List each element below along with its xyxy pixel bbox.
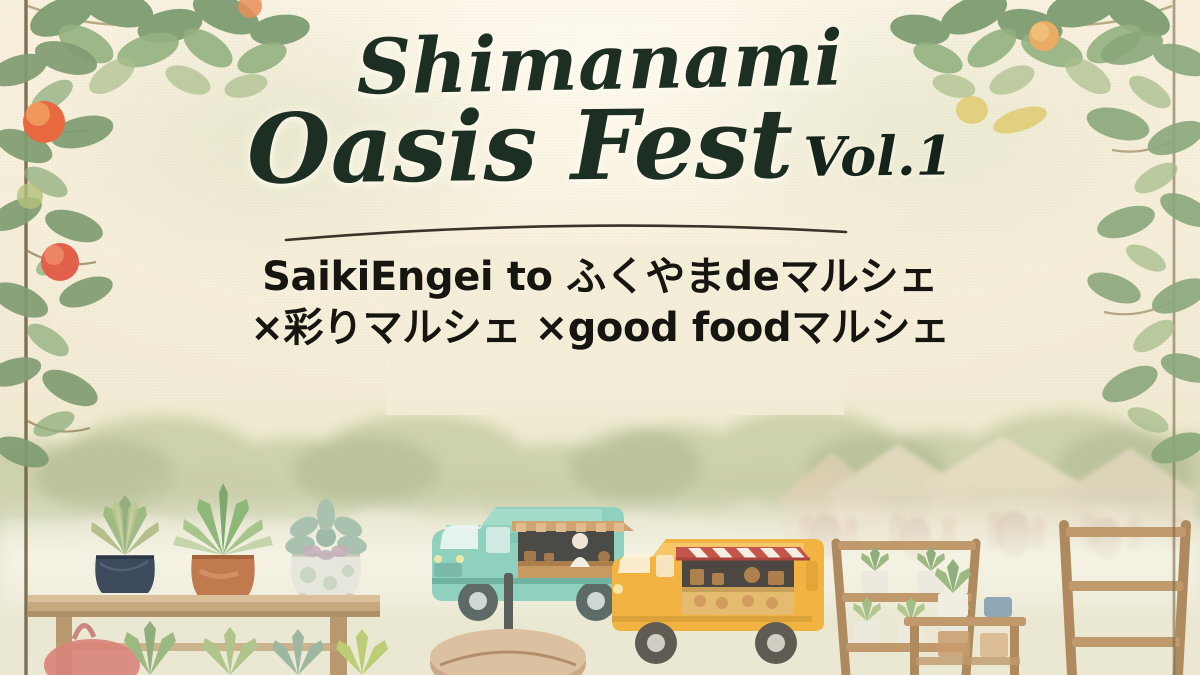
title-block: Shimanami Oasis Fest Vol.1	[0, 26, 1200, 194]
green-food-truck	[432, 507, 634, 621]
subtitle-line-1: SaikiEngei to ふくやまdeマルシェ	[0, 252, 1200, 303]
subtitle-line-2: ×彩りマルシェ ×good foodマルシェ	[0, 303, 1200, 354]
festival-poster: Shimanami Oasis Fest Vol.1 SaikiEngei to…	[0, 0, 1200, 675]
orange-food-truck	[612, 539, 824, 664]
title-swash-underline	[0, 214, 1200, 248]
title-volume: Vol.1	[803, 129, 953, 185]
subtitle-block: SaikiEngei to ふくやまdeマルシェ ×彩りマルシェ ×good f…	[0, 252, 1200, 354]
title-line-2: Oasis Fest	[246, 96, 793, 198]
